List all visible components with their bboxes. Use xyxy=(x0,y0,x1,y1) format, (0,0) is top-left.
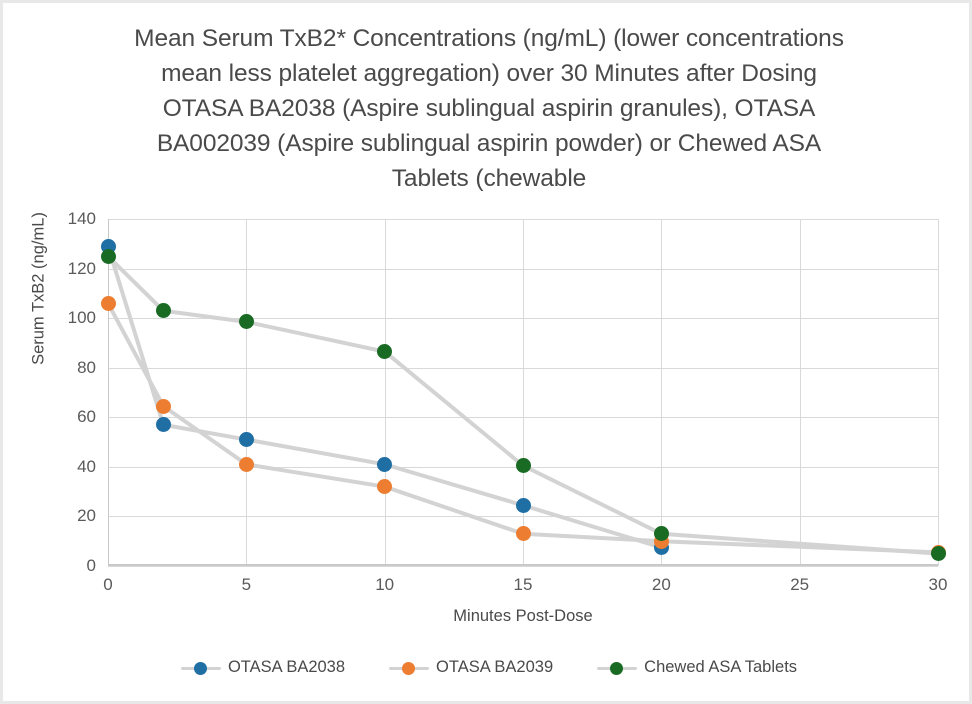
y-axis-tick-label: 60 xyxy=(36,407,96,427)
x-axis-tick-labels: 051015202530 xyxy=(108,575,938,599)
legend-item[interactable]: Chewed ASA Tablets xyxy=(597,658,797,677)
data-point-marker[interactable] xyxy=(931,546,946,561)
gridline-horizontal xyxy=(108,566,938,567)
x-axis-tick-label: 5 xyxy=(216,575,276,595)
data-point-marker[interactable] xyxy=(516,526,531,541)
legend-item-label: OTASA BA2038 xyxy=(228,658,345,677)
data-point-marker[interactable] xyxy=(101,249,116,264)
x-axis-tick-label: 0 xyxy=(78,575,138,595)
y-axis-tick-label: 40 xyxy=(36,457,96,477)
y-axis-tick-labels: 020406080100120140 xyxy=(36,219,96,566)
data-point-marker[interactable] xyxy=(654,526,669,541)
y-axis-tick-label: 120 xyxy=(36,259,96,279)
series-connector-lines xyxy=(108,219,938,566)
legend-item-label: Chewed ASA Tablets xyxy=(644,658,797,677)
legend-item[interactable]: OTASA BA2039 xyxy=(389,658,553,677)
series-line xyxy=(108,246,661,547)
x-axis-tick-label: 15 xyxy=(493,575,553,595)
chart-frame: Mean Serum TxB2* Concentrations (ng/mL) … xyxy=(0,0,972,704)
x-axis-tick-label: 30 xyxy=(908,575,968,595)
legend-dot-icon xyxy=(610,662,623,675)
legend-marker-icon xyxy=(389,661,429,675)
gridline-vertical xyxy=(938,219,939,566)
y-axis-tick-label: 140 xyxy=(36,209,96,229)
data-point-marker[interactable] xyxy=(156,303,171,318)
data-point-marker[interactable] xyxy=(516,458,531,473)
data-point-marker[interactable] xyxy=(516,498,531,513)
data-point-marker[interactable] xyxy=(156,399,171,414)
x-axis-tick-label: 25 xyxy=(770,575,830,595)
x-axis-tick-label: 20 xyxy=(631,575,691,595)
data-point-marker[interactable] xyxy=(239,432,254,447)
y-axis-tick-label: 80 xyxy=(36,358,96,378)
data-point-marker[interactable] xyxy=(239,457,254,472)
x-axis-title: Minutes Post-Dose xyxy=(108,607,938,626)
legend-item[interactable]: OTASA BA2038 xyxy=(181,658,345,677)
y-axis-tick-label: 0 xyxy=(36,556,96,576)
legend-marker-icon xyxy=(181,661,221,675)
legend-marker-icon xyxy=(597,661,637,675)
chart-title: Mean Serum TxB2* Concentrations (ng/mL) … xyxy=(123,21,855,196)
legend-item-label: OTASA BA2039 xyxy=(436,658,553,677)
data-point-marker[interactable] xyxy=(156,417,171,432)
chart-legend: OTASA BA2038OTASA BA2039Chewed ASA Table… xyxy=(3,658,972,677)
y-axis-tick-label: 20 xyxy=(36,506,96,526)
data-point-marker[interactable] xyxy=(377,457,392,472)
plot-area xyxy=(108,219,938,566)
y-axis-tick-label: 100 xyxy=(36,308,96,328)
data-point-marker[interactable] xyxy=(101,296,116,311)
legend-dot-icon xyxy=(194,662,207,675)
legend-dot-icon xyxy=(402,662,415,675)
x-axis-tick-label: 10 xyxy=(355,575,415,595)
series-line xyxy=(108,303,938,552)
